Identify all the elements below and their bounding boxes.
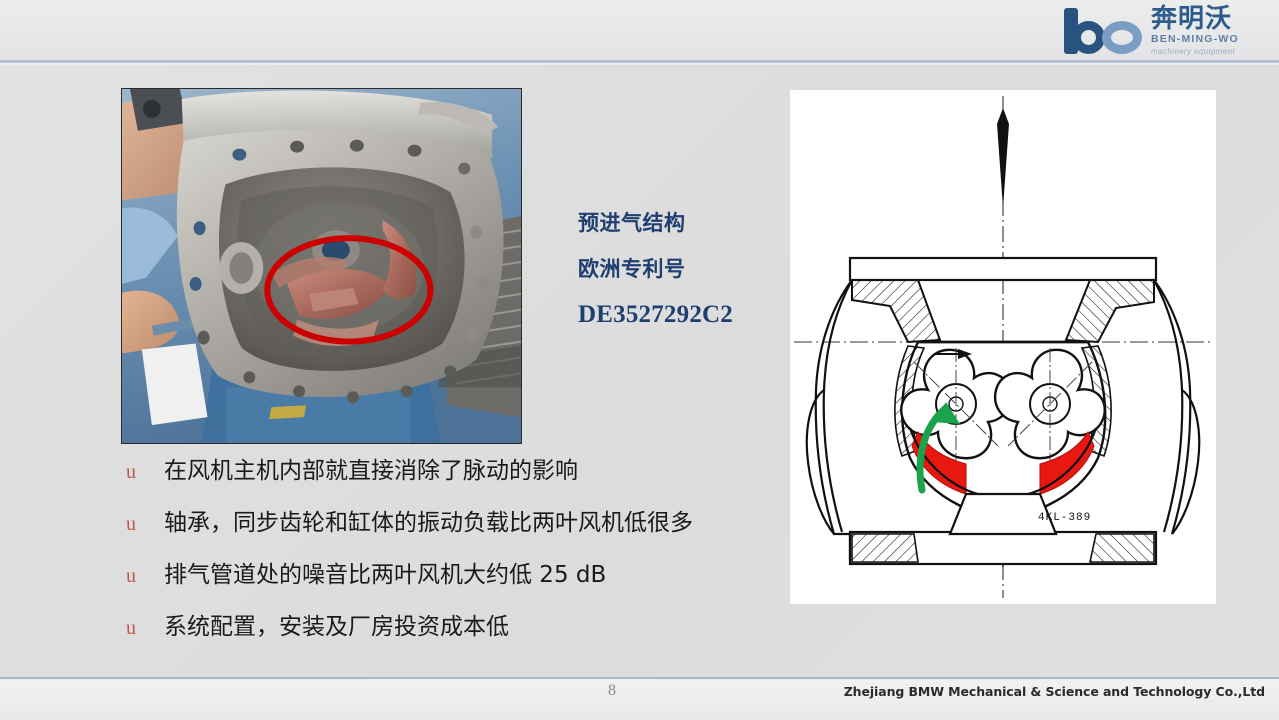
logo-wordmark: 奔明沃 BEN-MING-WO machinery equipment	[1148, 5, 1276, 57]
bo-monogram-icon	[1062, 6, 1148, 56]
bullet-text: 轴承，同步齿轮和缸体的振动负载比两叶风机低很多	[164, 510, 762, 538]
page-number: 8	[592, 682, 632, 700]
caption-line-structure: 预进气结构	[578, 200, 793, 246]
list-item: u 排气管道处的噪音比两叶风机大约低 25 dB	[122, 562, 762, 614]
logo-b-bowl	[1072, 21, 1105, 54]
blower-casing-photo	[121, 88, 522, 444]
logo-o-ring	[1102, 21, 1142, 54]
diagram-svg: 4KL-389	[790, 90, 1216, 604]
header-divider-highlight	[0, 63, 1279, 65]
photo-canvas	[122, 89, 521, 443]
logo-chinese-name: 奔明沃	[1151, 5, 1276, 33]
bullet-text: 在风机主机内部就直接消除了脉动的影响	[164, 458, 762, 486]
bullet-marker-icon: u	[122, 462, 164, 482]
caption-line-patent-number: DE3527292C2	[578, 292, 793, 338]
bullet-list: u 在风机主机内部就直接消除了脉动的影响 u 轴承，同步齿轮和缸体的振动负载比两…	[122, 458, 762, 666]
list-item: u 系统配置，安装及厂房投资成本低	[122, 614, 762, 666]
photo-illustration	[122, 89, 521, 443]
company-logo: 奔明沃 BEN-MING-WO machinery equipment	[1062, 2, 1276, 60]
diagram-part-label: 4KL-389	[1038, 512, 1091, 524]
logo-english-name: BEN-MING-WO	[1151, 33, 1276, 46]
caption-line-patent-label: 欧洲专利号	[578, 246, 793, 292]
footer-company-name: Zhejiang BMW Mechanical & Science and Te…	[844, 684, 1265, 699]
patent-caption: 预进气结构 欧洲专利号 DE3527292C2	[578, 200, 793, 338]
bullet-text: 系统配置，安装及厂房投资成本低	[164, 614, 762, 642]
blower-cross-section-diagram: 4KL-389	[790, 90, 1216, 604]
bullet-marker-icon: u	[122, 618, 164, 638]
bullet-marker-icon: u	[122, 566, 164, 586]
list-item: u 轴承，同步齿轮和缸体的振动负载比两叶风机低很多	[122, 510, 762, 562]
bullet-text: 排气管道处的噪音比两叶风机大约低 25 dB	[164, 562, 762, 590]
logo-tagline: machinery equipment	[1151, 46, 1276, 57]
list-item: u 在风机主机内部就直接消除了脉动的影响	[122, 458, 762, 510]
presentation-slide: 奔明沃 BEN-MING-WO machinery equipment	[0, 0, 1279, 720]
bullet-marker-icon: u	[122, 514, 164, 534]
